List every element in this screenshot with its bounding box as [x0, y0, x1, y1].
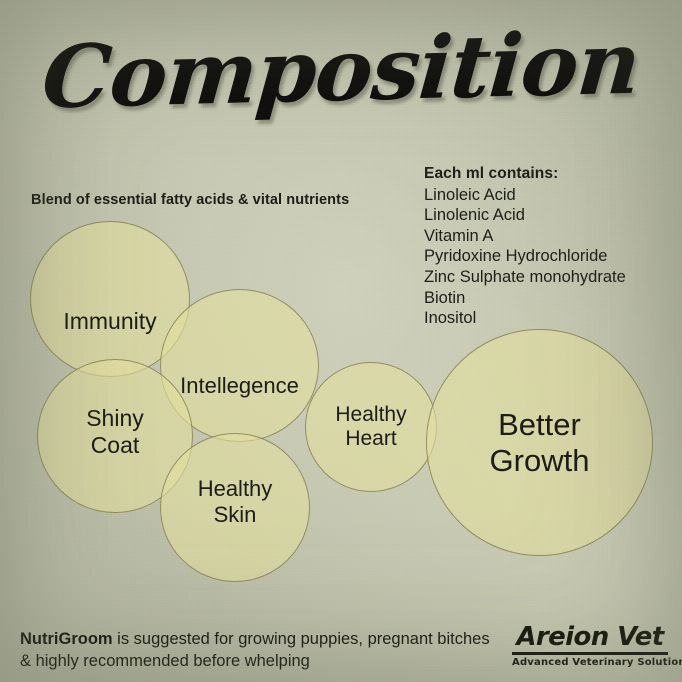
product-name: NutriGroom — [20, 630, 113, 648]
benefit-label: HealthyHeart — [335, 403, 406, 452]
benefit-circle-healthy-heart: HealthyHeart — [305, 362, 437, 492]
logo-wordmark: Areion Vet — [512, 624, 668, 650]
benefit-label: BetterGrowth — [490, 407, 590, 479]
benefit-label: Immunity — [63, 308, 156, 335]
footer-recommendation: NutriGroom is suggested for growing pupp… — [20, 628, 500, 672]
benefit-label: HealthySkin — [198, 476, 273, 527]
brand-logo: Areion Vet Advanced Veterinary Solutions — [512, 624, 668, 668]
benefit-label: ShinyCoat — [86, 405, 144, 458]
composition-poster: Composition Blend of essential fatty aci… — [0, 0, 682, 682]
benefit-circle-better-growth: BetterGrowth — [426, 329, 653, 556]
benefit-label: Intellegence — [180, 373, 299, 399]
logo-tagline: Advanced Veterinary Solutions — [512, 657, 668, 668]
logo-divider — [512, 652, 668, 655]
benefits-venn-diagram: Immunity Intellegence ShinyCoat HealthyS… — [0, 0, 682, 682]
benefit-circle-healthy-skin: HealthySkin — [160, 433, 310, 582]
